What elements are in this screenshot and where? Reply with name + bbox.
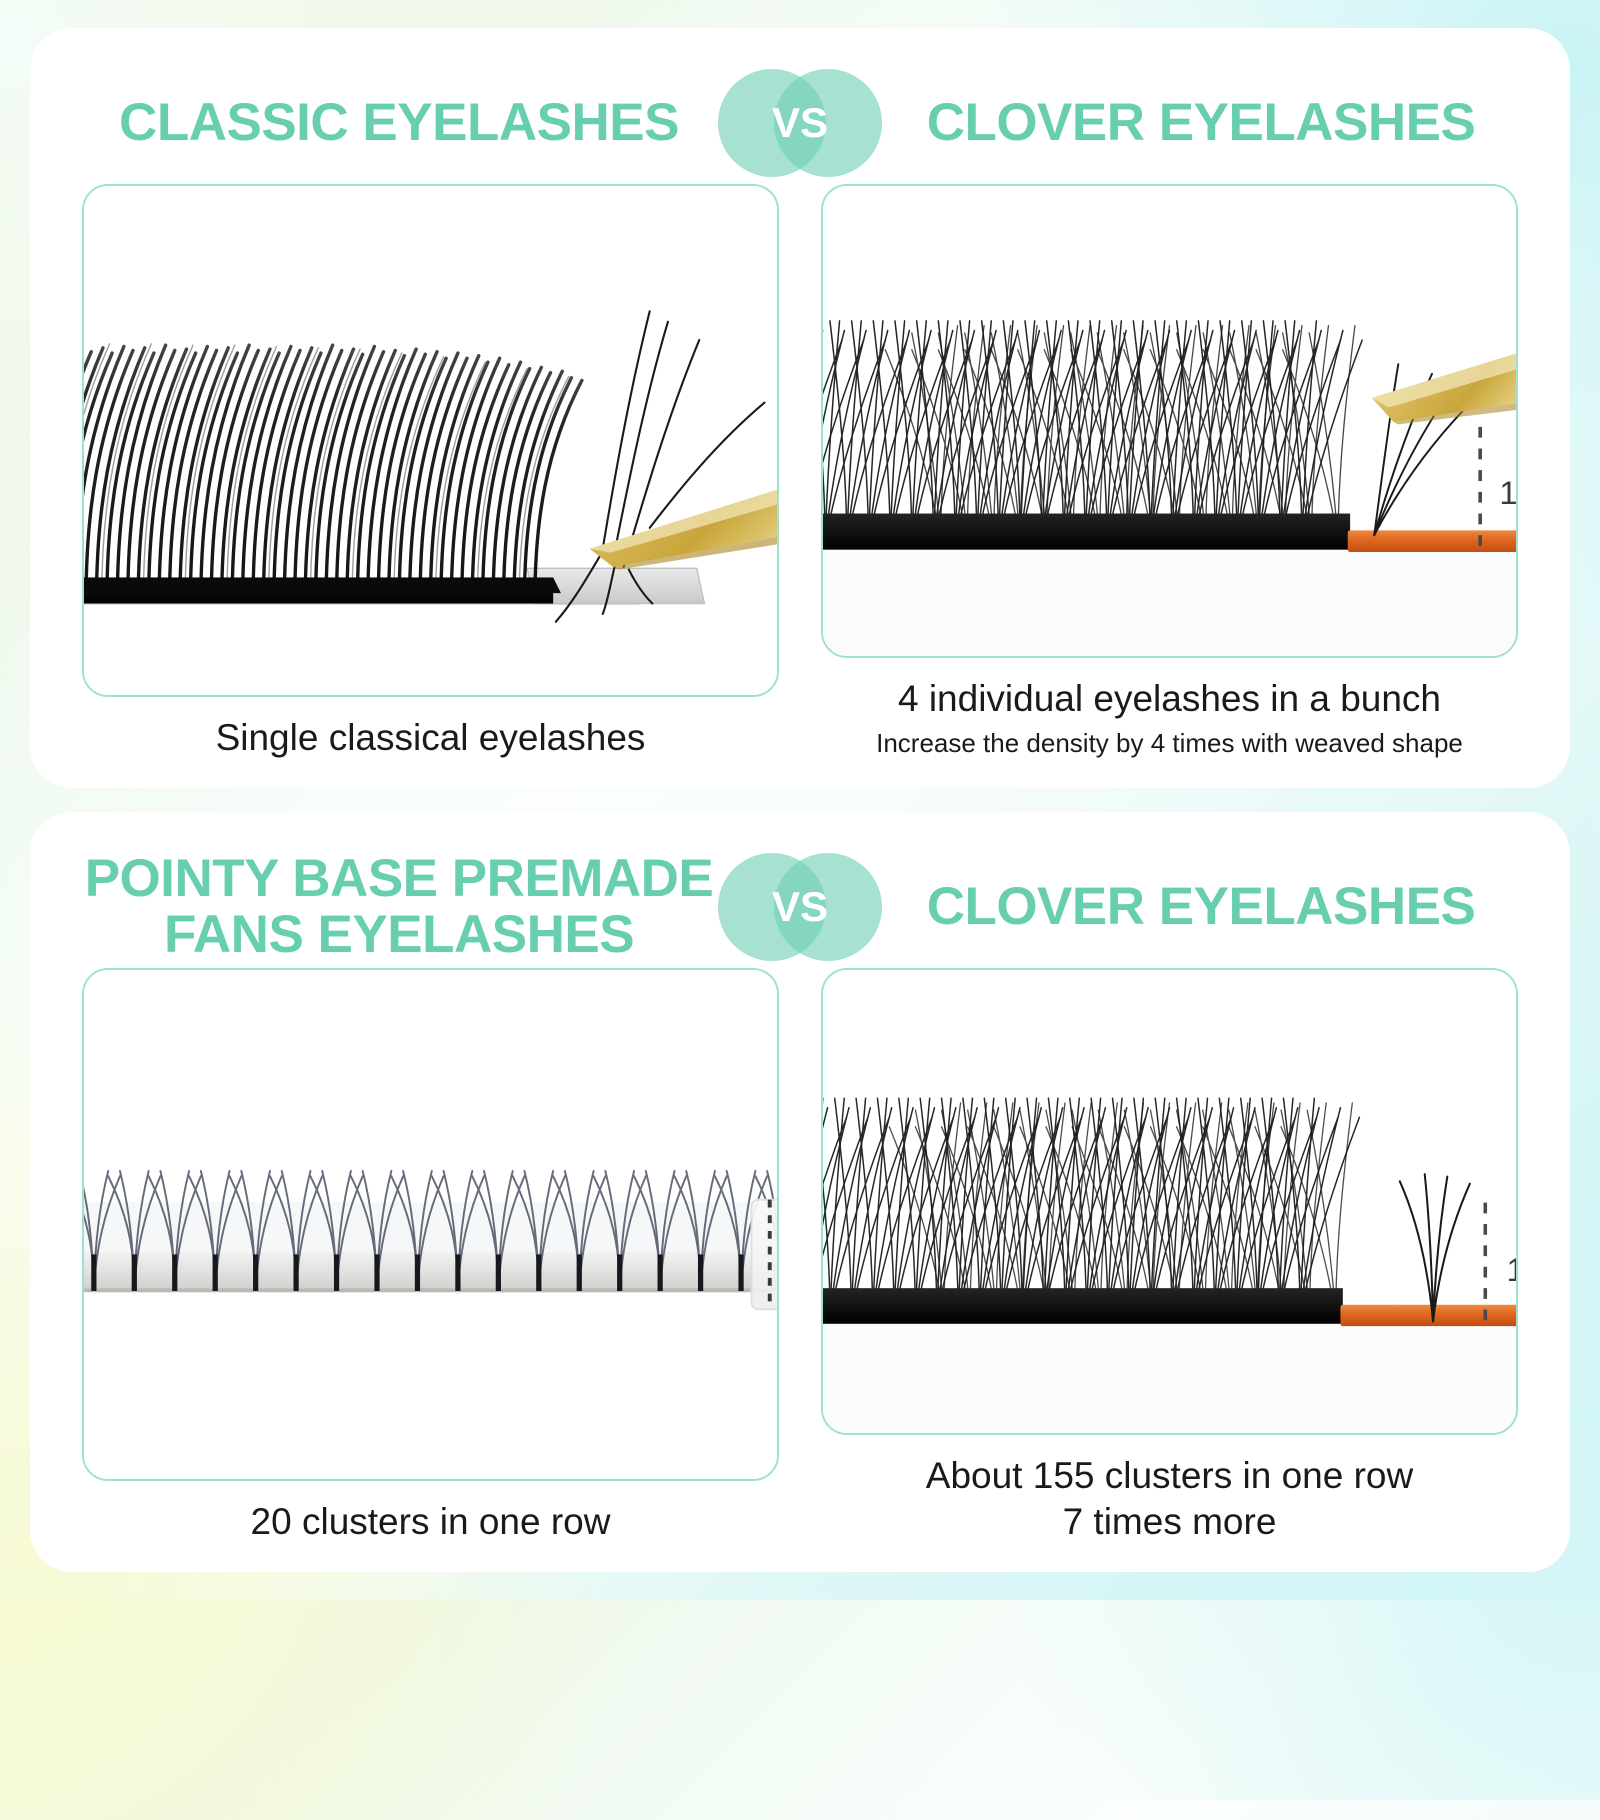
section-2-right-column: 12mm About 155 clusters in one row 7 tim… (821, 968, 1518, 1544)
clover-lash-illustration-bottom: 12mm (823, 970, 1516, 1433)
caption-clover-bottom-sub: 7 times more (821, 1499, 1518, 1544)
caption-clover-top: 4 individual eyelashes in a bunch Increa… (821, 676, 1518, 760)
photo-clover-lashes-bottom: 12mm (821, 968, 1518, 1435)
section-1-panels: Single classical eyelashes (82, 184, 1518, 760)
section-header-2: POINTY BASE PREMADE FANS EYELASHES VS CL… (82, 846, 1518, 968)
svg-text:12mm: 12mm (1507, 1252, 1516, 1288)
caption-classic: Single classical eyelashes (82, 715, 779, 760)
photo-clover-lashes-top: 12mm (821, 184, 1518, 658)
clover-lash-illustration-top: 12mm (823, 186, 1516, 656)
section-2-title-left: POINTY BASE PREMADE FANS EYELASHES (82, 851, 716, 963)
photo-premade-fans: 13 (82, 968, 779, 1481)
section-2-title-right: CLOVER EYELASHES (884, 879, 1518, 935)
section-1-title-right: CLOVER EYELASHES (884, 95, 1518, 151)
caption-classic-main: Single classical eyelashes (82, 715, 779, 760)
caption-clover-bottom: About 155 clusters in one row 7 times mo… (821, 1453, 1518, 1544)
infographic-page: CLASSIC EYELASHES VS CLOVER EYELASHES (0, 0, 1600, 1600)
vs-label-2: VS (772, 883, 828, 931)
classic-lash-illustration (84, 186, 777, 695)
premade-fans-illustration: 13 (84, 970, 777, 1479)
svg-text:12mm: 12mm (1499, 475, 1516, 511)
caption-clover-bottom-main: About 155 clusters in one row (821, 1453, 1518, 1499)
photo-classic-lashes (82, 184, 779, 697)
caption-premade-fans: 20 clusters in one row (82, 1499, 779, 1544)
caption-clover-top-sub: Increase the density by 4 times with wea… (821, 727, 1518, 760)
section-1-left-column: Single classical eyelashes (82, 184, 779, 760)
comparison-card-classic-vs-clover: CLASSIC EYELASHES VS CLOVER EYELASHES (30, 28, 1570, 788)
comparison-card-pointy-vs-clover: POINTY BASE PREMADE FANS EYELASHES VS CL… (30, 812, 1570, 1572)
section-header-1: CLASSIC EYELASHES VS CLOVER EYELASHES (82, 62, 1518, 184)
section-2-left-column: 13 20 clusters in one row (82, 968, 779, 1544)
section-1-right-column: 12mm 4 individual eyelashes in a bunch I… (821, 184, 1518, 760)
vs-label-1: VS (772, 99, 828, 147)
section-1-title-left: CLASSIC EYELASHES (82, 95, 716, 151)
caption-clover-top-main: 4 individual eyelashes in a bunch (821, 676, 1518, 721)
vs-badge-1: VS (716, 67, 884, 179)
section-2-panels: 13 20 clusters in one row (82, 968, 1518, 1544)
vs-badge-2: VS (716, 851, 884, 963)
caption-premade-fans-main: 20 clusters in one row (82, 1499, 779, 1544)
